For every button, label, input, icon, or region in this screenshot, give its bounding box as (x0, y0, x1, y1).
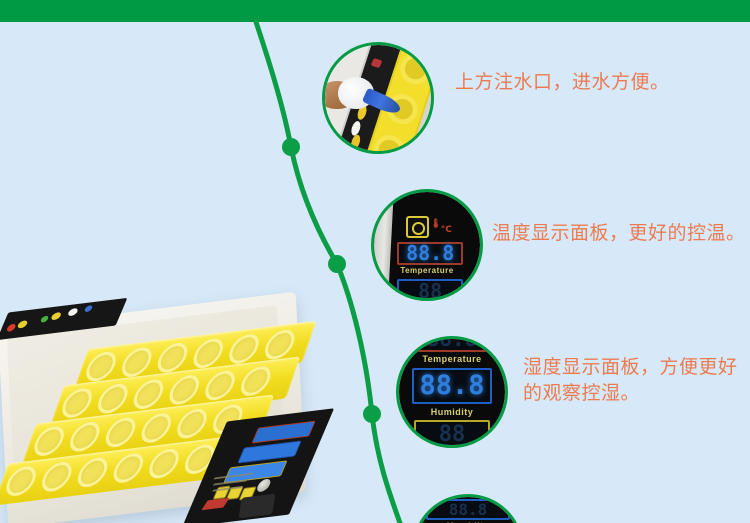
humidity-display-photo: 88.8 Temperature 88.8 Humidity 88 (399, 339, 505, 445)
product-detail-page: 🌡 °C 88.8 Temperature 88 88.8 Temperatur… (0, 0, 750, 523)
humidity-value: 88.8 (419, 372, 484, 399)
annotation-water-inlet: 上方注水口，进水方便。 (455, 70, 670, 96)
callout-humidity-display[interactable]: 88.8 Temperature 88.8 Humidity 88 (396, 336, 508, 448)
humidity-readout (237, 440, 301, 463)
indicator-light-white (67, 308, 79, 317)
temperature-label: Temperature (374, 266, 480, 275)
indicator-light-blue (84, 305, 94, 312)
humidity-display-window: 88.8 (412, 368, 493, 404)
indicator-light-yellow (17, 320, 29, 329)
humidity-photo-temperature-label: Temperature (399, 354, 505, 364)
humidity-display-bottom-photo: 88.8 Humidity (415, 497, 521, 523)
power-knob[interactable] (255, 478, 272, 492)
brand-logo (201, 498, 229, 511)
humidity-label: Humidity (399, 407, 505, 417)
callout-humidity-display-bottom[interactable]: 88.8 Humidity (412, 494, 524, 523)
connector-dot-1 (282, 138, 300, 156)
indicator-light-green (40, 316, 50, 323)
annotation-humidity-panel: 湿度显示面板，方便更好 的观察控湿。 (523, 355, 738, 407)
connector-dot-3 (363, 405, 381, 423)
water-inlet-photo (325, 45, 431, 151)
callout-temperature-display[interactable]: 🌡 °C 88.8 Temperature 88 (371, 189, 483, 301)
indicator-light-yellow-2 (50, 312, 62, 321)
temperature-display-photo: 🌡 °C 88.8 Temperature 88 (374, 192, 480, 298)
temperature-display-window: 88.8 (397, 242, 463, 265)
temperature-readout (251, 421, 315, 444)
product-photo-incubator (0, 300, 314, 523)
top-green-band (0, 0, 750, 22)
days-readout (223, 460, 287, 483)
temperature-value: 88.8 (406, 243, 454, 263)
connector-dot-2 (328, 255, 346, 273)
indicator-light-red (6, 324, 17, 332)
temperature-sensor-icon (406, 216, 429, 238)
annotation-temperature-panel: 温度显示面板，更好的控温。 (492, 221, 746, 247)
callout-water-inlet[interactable] (322, 42, 434, 154)
